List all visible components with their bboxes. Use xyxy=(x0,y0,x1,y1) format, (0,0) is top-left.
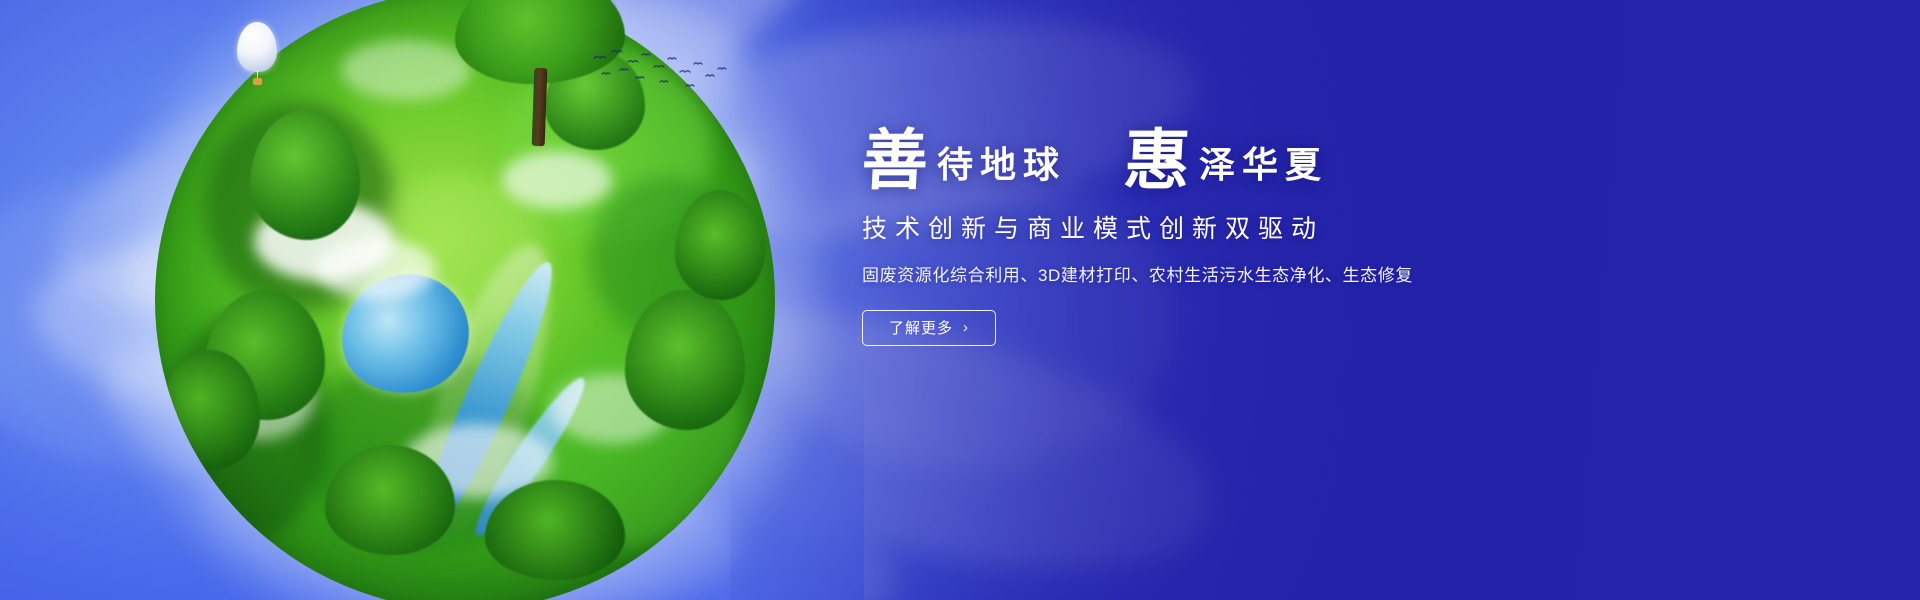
balloon-envelope xyxy=(237,22,277,72)
learn-more-label: 了解更多 xyxy=(889,317,953,338)
balloon-basket xyxy=(253,78,262,85)
headline-rest-1: 待地球 xyxy=(929,147,1066,193)
headline-char-2: 惠 xyxy=(1122,128,1192,193)
hot-air-balloon-icon xyxy=(237,22,281,92)
learn-more-button[interactable]: 了解更多 › xyxy=(862,310,996,346)
hero-content: 善 待地球 惠 泽华夏 技术创新与商业模式创新双驱动 固废资源化综合利用、3D建… xyxy=(862,128,1682,346)
tree-trunk xyxy=(532,68,548,146)
subtitle: 技术创新与商业模式创新双驱动 xyxy=(862,209,1682,245)
chevron-right-icon: › xyxy=(963,320,969,335)
headline-rest-2: 泽华夏 xyxy=(1191,147,1328,193)
hero-banner: 善 待地球 惠 泽华夏 技术创新与商业模式创新双驱动 固废资源化综合利用、3D建… xyxy=(0,0,1920,600)
page-title: 善 待地球 惠 泽华夏 xyxy=(862,128,1682,193)
tagline: 固废资源化综合利用、3D建材打印、农村生活污水生态净化、生态修复 xyxy=(862,261,1682,286)
headline-char-1: 善 xyxy=(860,128,930,193)
birds-icon xyxy=(590,48,730,93)
